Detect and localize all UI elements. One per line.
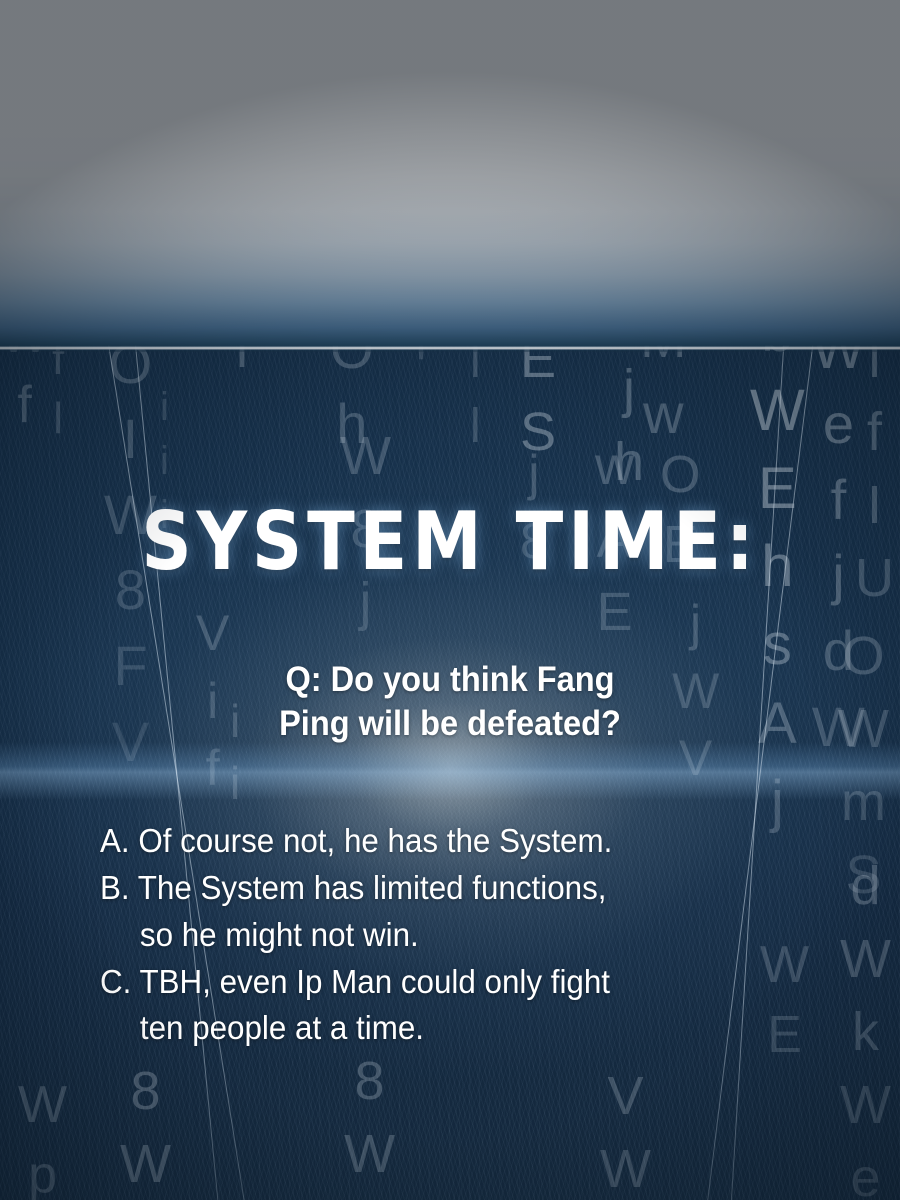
page-title: SYSTEM TIME: xyxy=(14,501,887,582)
question-line-1: Q: Do you think Fang xyxy=(32,658,869,702)
question-line-2: Ping will be defeated? xyxy=(32,702,869,746)
question-block: Q: Do you think Fang Ping will be defeat… xyxy=(32,658,869,746)
answer-option-a[interactable]: A. Of course not, he has the System. xyxy=(100,818,784,865)
answer-option-c[interactable]: C. TBH, even Ip Man could only fight xyxy=(100,959,784,1006)
answer-option-b-continuation[interactable]: so he might not win. xyxy=(100,912,784,959)
answer-option-c-continuation[interactable]: ten people at a time. xyxy=(100,1005,784,1052)
answer-option-b[interactable]: B. The System has limited functions, xyxy=(100,865,784,912)
answer-options-list: A. Of course not, he has the System. B. … xyxy=(100,818,784,1052)
slide-content: SYSTEM TIME: Q: Do you think Fang Ping w… xyxy=(0,0,900,1200)
slide-canvas: iWffloOIW8FViiiVifii8WbwWpljloOhW8j8WWll… xyxy=(0,0,900,1200)
